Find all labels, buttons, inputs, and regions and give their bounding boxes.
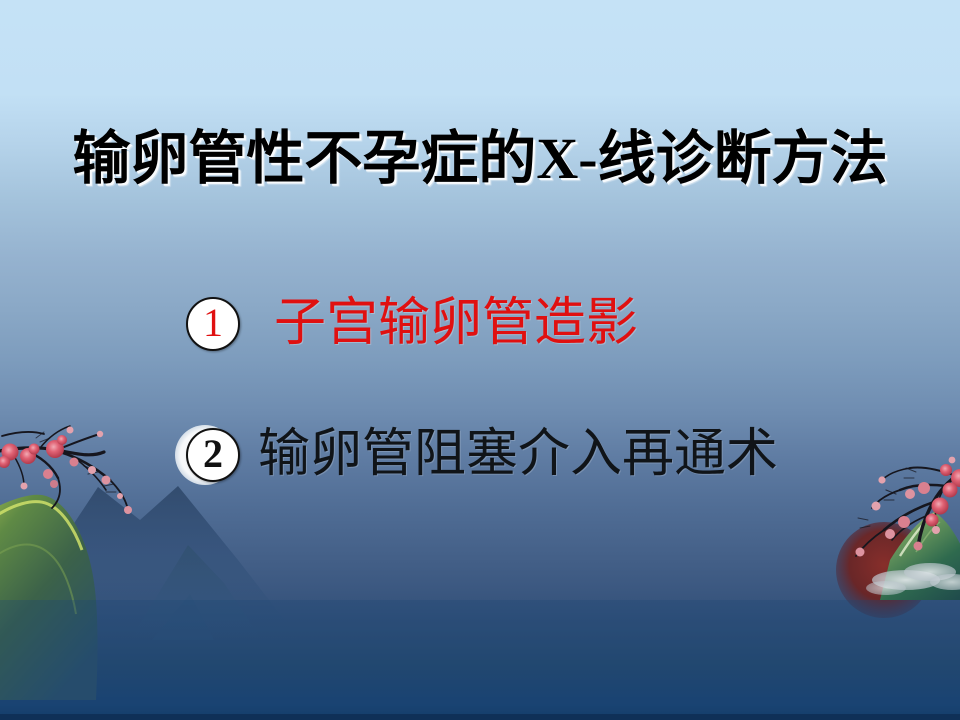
slide-title-block: 输卵管性不孕症的X-线诊断方法 bbox=[0, 126, 960, 192]
presentation-slide: 输卵管性不孕症的X-线诊断方法 1 子宫输卵管造影 2 输卵管阻塞介入再通术 bbox=[0, 0, 960, 720]
right-green-mountain bbox=[880, 512, 960, 600]
page-title: 输卵管性不孕症的X-线诊断方法 bbox=[72, 126, 887, 192]
slide-background-artwork bbox=[0, 0, 960, 720]
right-plum-blossoms bbox=[856, 457, 960, 557]
list-item-label: 输卵管阻塞介入再通术 bbox=[258, 427, 778, 483]
list-item[interactable]: 1 子宫输卵管造影 bbox=[186, 296, 638, 352]
list-item-label: 子宫输卵管造影 bbox=[274, 296, 638, 352]
right-clouds bbox=[866, 563, 960, 595]
left-blue-mountains bbox=[0, 486, 300, 640]
left-green-mountain bbox=[0, 495, 98, 700]
numbered-bullet-2: 2 bbox=[186, 428, 240, 482]
list-item[interactable]: 2 输卵管阻塞介入再通术 bbox=[186, 427, 778, 483]
right-sun-disc bbox=[836, 522, 932, 618]
numbered-bullet-1: 1 bbox=[186, 297, 240, 351]
right-plum-blossom-branch bbox=[856, 467, 960, 556]
left-plum-blossom-branch bbox=[0, 426, 128, 510]
left-plum-blossoms bbox=[0, 427, 132, 515]
